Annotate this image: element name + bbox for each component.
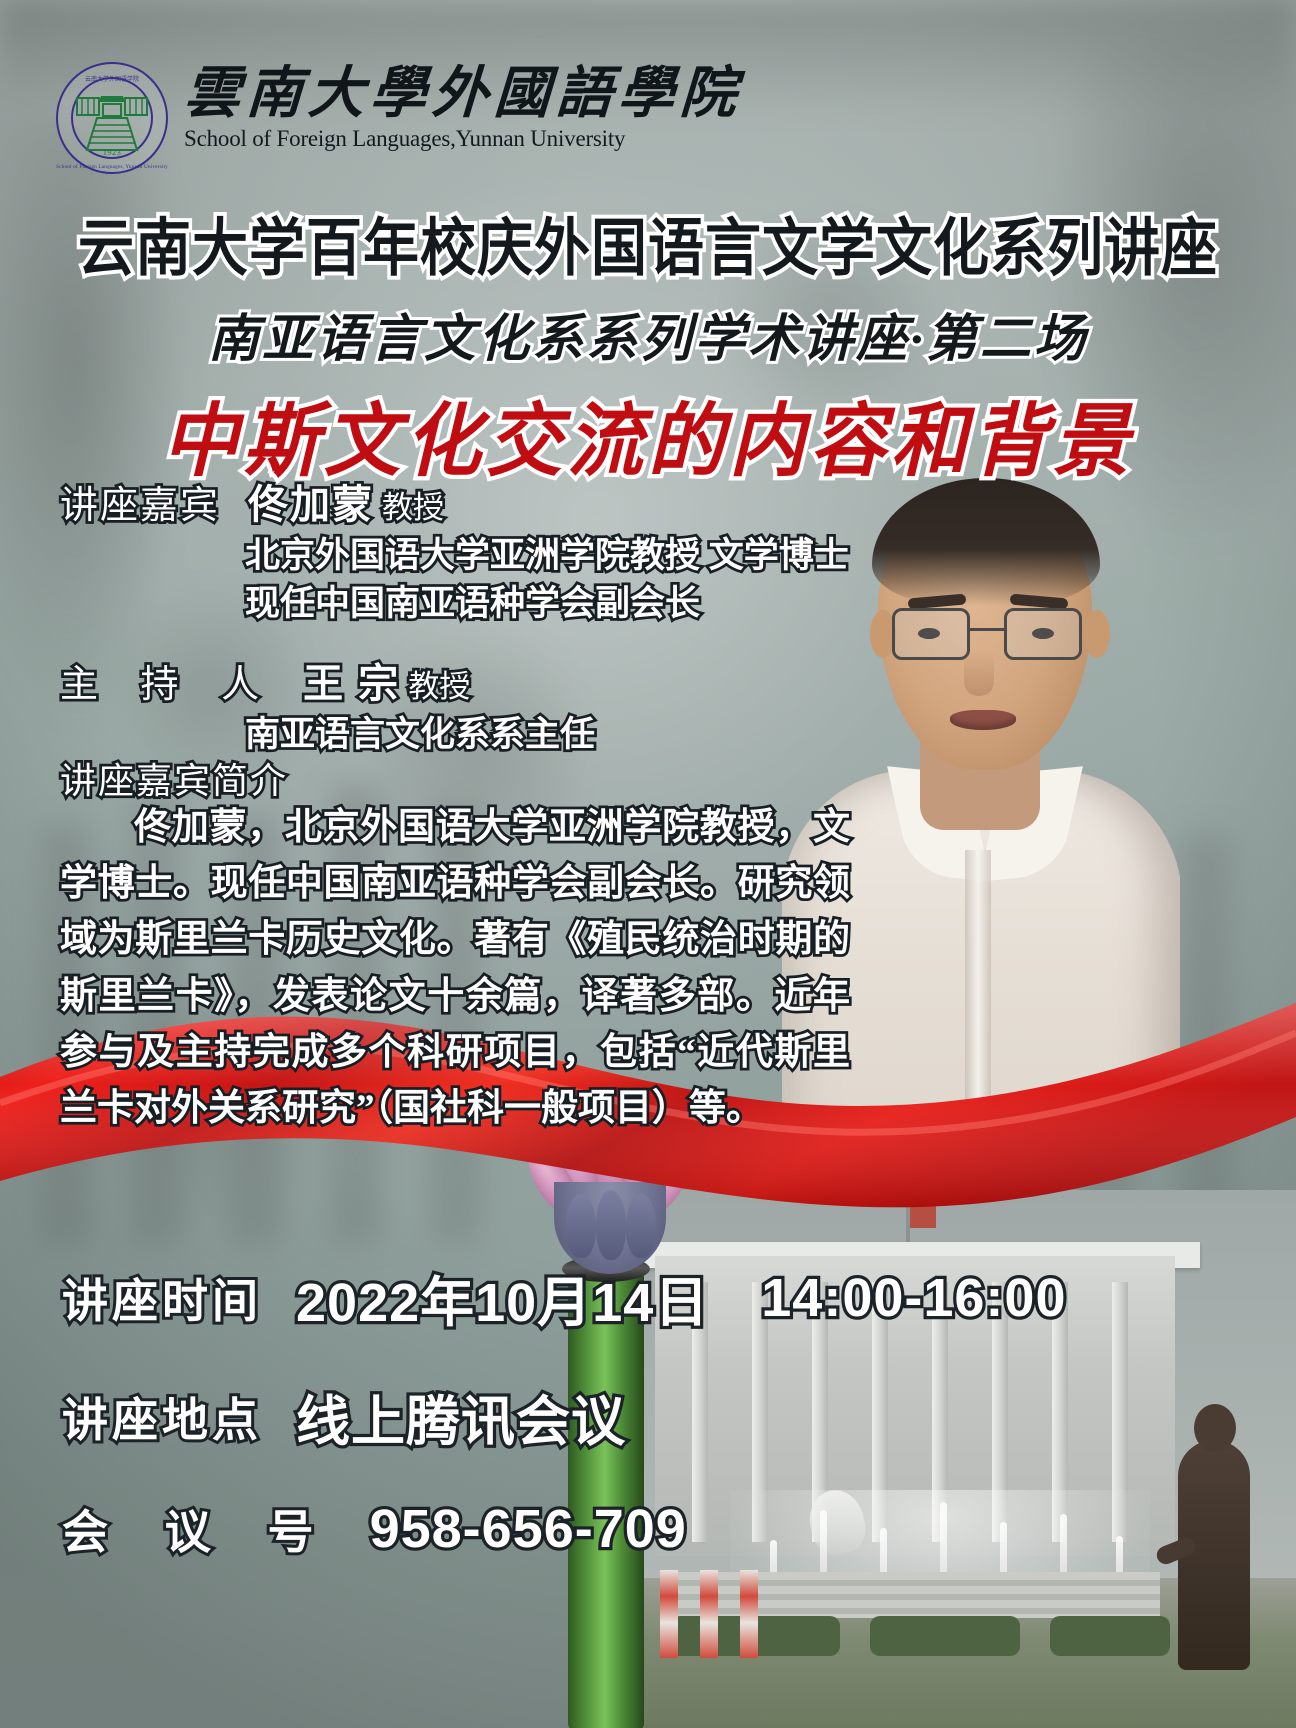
bio-body-text: 佟加蒙，北京外国语大学亚洲学院教授，文学博士。现任中国南亚语种学会副会长。研究领…	[60, 800, 850, 1137]
participants-block: 讲座嘉宾 佟加蒙 教授 北京外国语大学亚洲学院教授 文学博士 现任中国南亚语种学…	[60, 472, 860, 759]
speaker-label: 讲座嘉宾	[60, 474, 220, 529]
series-subtitle: 南亚语言文化系系列学术讲座·第二场	[0, 297, 1296, 371]
seal-arc-bottom-text: School of Foreign Languages, Yunnan Univ…	[56, 164, 168, 170]
speaker-affiliation-1: 北京外国语大学亚洲学院教授 文学博士	[245, 532, 860, 580]
time-row: 讲座时间 2022年10月14日 14:00-16:00	[62, 1258, 1112, 1337]
speaker-honorific: 教授	[382, 482, 444, 527]
speaker-row: 讲座嘉宾 佟加蒙 教授	[60, 472, 860, 530]
meeting-number: 958-656-709	[370, 1498, 687, 1560]
gate-building-icon	[75, 92, 149, 154]
header-logo-row: 云南大学外国语学院 1923 School of Foreign Langua	[56, 62, 742, 174]
host-honorific: 教授	[408, 661, 470, 706]
host-name: 王 宗	[303, 651, 400, 709]
flag-icon	[910, 1206, 936, 1228]
time-range: 14:00-16:00	[761, 1267, 1066, 1329]
meeting-row: 会 议 号 958-656-709	[62, 1496, 1112, 1562]
speaker-name: 佟加蒙	[248, 472, 374, 530]
time-date: 2022年10月14日	[296, 1258, 709, 1337]
place-label: 讲座地点	[62, 1384, 262, 1450]
host-label: 主 持 人	[60, 653, 275, 708]
lecture-poster: 云南大学外国语学院 1923 School of Foreign Langua	[0, 0, 1296, 1728]
place-row: 讲座地点 线上腾讯会议	[62, 1377, 1112, 1456]
bio-heading: 讲座嘉宾简介	[60, 752, 288, 804]
university-seal-icon: 云南大学外国语学院 1923 School of Foreign Langua	[56, 62, 168, 174]
institute-name-en: School of Foreign Languages,Yunnan Unive…	[184, 126, 742, 152]
title-block: 云南大学百年校庆外国语言文学文化系列讲座 南亚语言文化系系列学术讲座·第二场 中…	[0, 215, 1296, 489]
seal-year-text: 1923	[56, 147, 168, 157]
institute-name-cn: 雲南大學外國語學院	[182, 64, 743, 124]
host-row: 主 持 人 王 宗 教授	[60, 651, 860, 709]
statue-figure	[1150, 1370, 1270, 1670]
meeting-label: 会 议 号	[62, 1496, 336, 1562]
host-affiliation-1: 南亚语言文化系系主任	[245, 711, 860, 759]
seal-arc-top-text: 云南大学外国语学院	[56, 74, 168, 83]
footer-details: 讲座时间 2022年10月14日 14:00-16:00 讲座地点 线上腾讯会议…	[62, 1258, 1112, 1602]
place-value: 线上腾讯会议	[296, 1377, 626, 1456]
speaker-affiliation-2: 现任中国南亚语种学会副会长	[245, 580, 860, 628]
time-label: 讲座时间	[62, 1265, 262, 1331]
main-title: 云南大学百年校庆外国语言文学文化系列讲座	[0, 211, 1296, 285]
